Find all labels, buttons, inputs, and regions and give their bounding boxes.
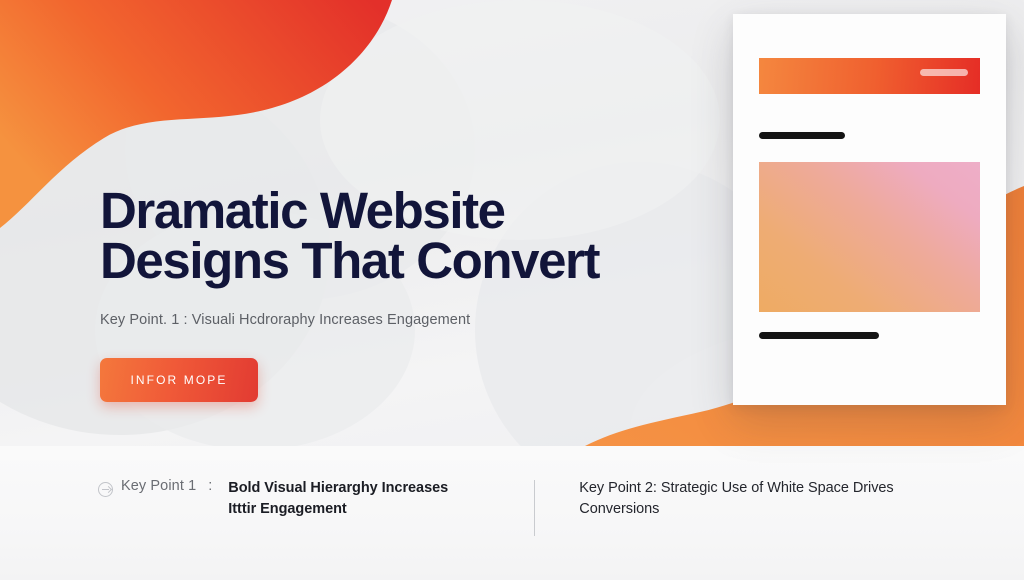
headline-line-2: Designs That Convert (100, 236, 660, 286)
key-point-1[interactable]: Key Point 1 : Bold Visual Hierarghy Incr… (98, 478, 478, 520)
key-point-2-line-1: Key Point 2: Strategic Use of White Spac… (579, 480, 849, 496)
key-point-1-label: Key Point 1 (121, 478, 196, 494)
points-divider (534, 480, 535, 536)
key-point-1-colon: : (208, 478, 212, 494)
key-point-1-line-2: Itttir Engagement (228, 501, 346, 517)
info-more-button[interactable]: INFOR MOPE (100, 358, 258, 402)
hero-copy: Dramatic Website Designs That Convert Ke… (100, 186, 660, 402)
arrow-circle-icon (98, 482, 113, 497)
card-header-pill (920, 69, 968, 76)
headline-line-1: Dramatic Website (100, 182, 505, 239)
slide-canvas: Dramatic Website Designs That Convert Ke… (0, 0, 1024, 580)
document-preview-card[interactable] (733, 14, 1006, 405)
card-image-placeholder (759, 162, 980, 312)
card-text-bar-bottom (759, 332, 879, 339)
key-point-2[interactable]: Key Point 2: Strategic Use of White Spac… (579, 478, 899, 520)
key-points-bar: Key Point 1 : Bold Visual Hierarghy Incr… (0, 446, 1024, 580)
key-point-2-text: Key Point 2: Strategic Use of White Spac… (579, 478, 899, 520)
card-header-bar (759, 58, 980, 94)
key-point-1-line-1: Bold Visual Hierarghy Increases (228, 480, 448, 496)
hero-subheading: Key Point. 1 : Visuali Hcdroraphy Increa… (100, 312, 660, 328)
card-content (759, 58, 980, 339)
page-title: Dramatic Website Designs That Convert (100, 186, 660, 286)
card-text-bar-top (759, 132, 845, 139)
key-point-1-text: Bold Visual Hierarghy Increases Itttir E… (228, 478, 478, 520)
